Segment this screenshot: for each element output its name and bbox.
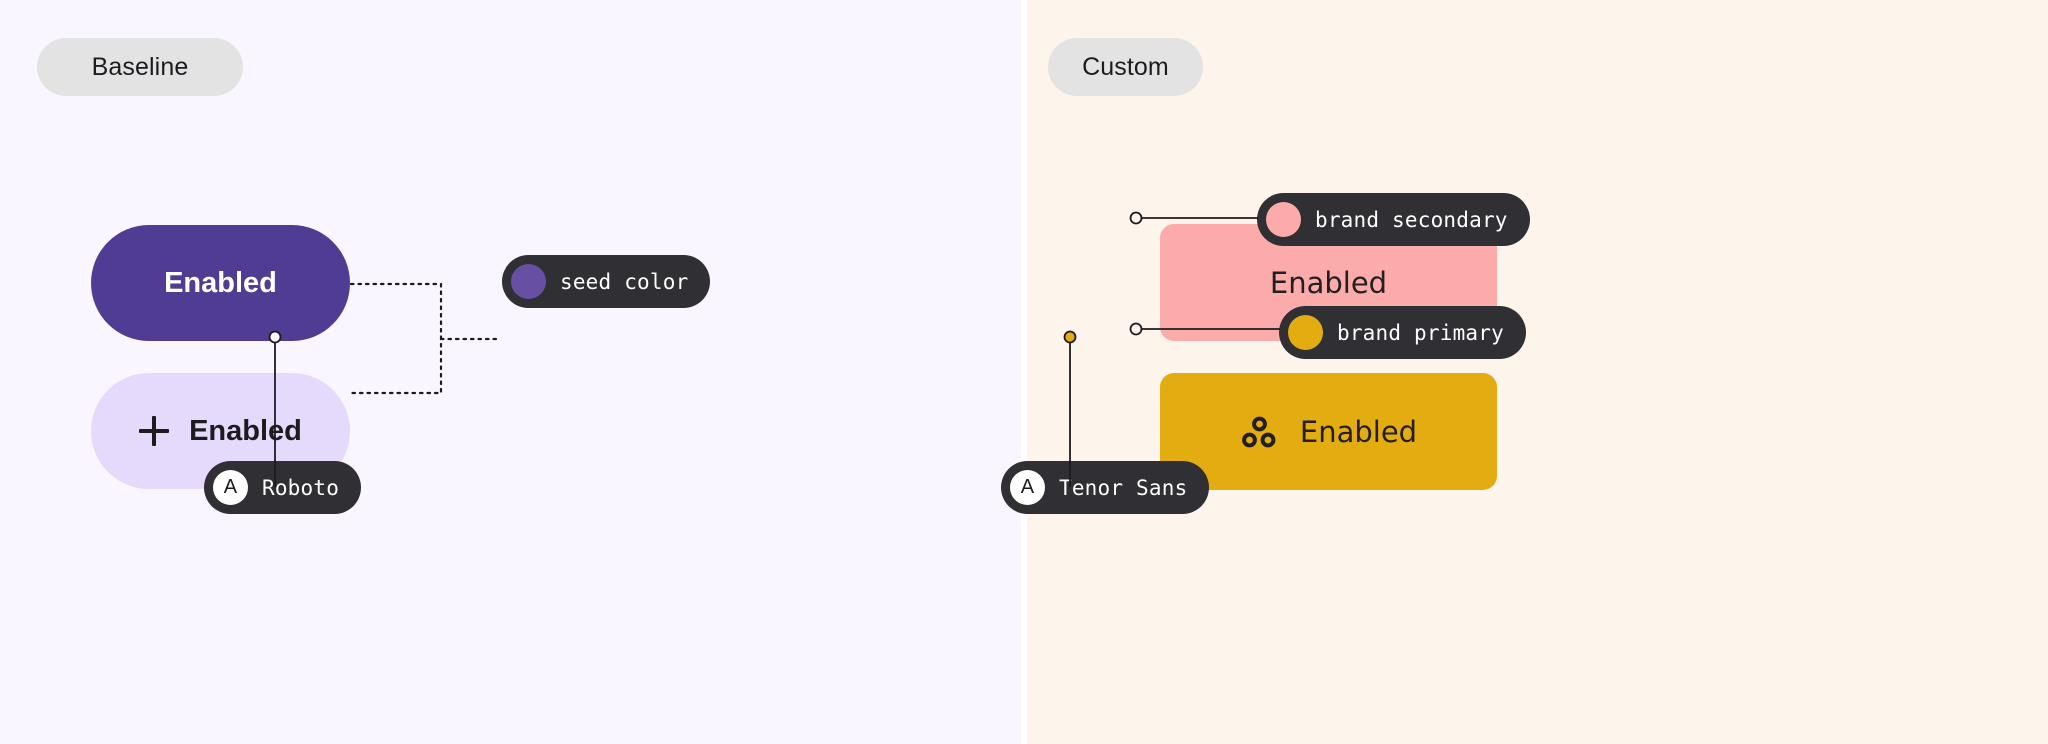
cluster-dots-icon: [1240, 413, 1278, 451]
token-chip-seed-color-label: seed color: [560, 270, 688, 294]
section-chip-baseline[interactable]: Baseline: [37, 38, 243, 96]
token-chip-tenor-sans[interactable]: A Tenor Sans: [1001, 461, 1209, 514]
button-enabled-brand-primary-label: Enabled: [1300, 415, 1417, 449]
color-swatch-brand-primary: [1288, 315, 1323, 350]
plus-icon: [139, 416, 169, 446]
section-chip-baseline-label: Baseline: [92, 53, 189, 82]
token-chip-roboto[interactable]: A Roboto: [204, 461, 361, 514]
token-chip-brand-primary[interactable]: brand primary: [1279, 306, 1526, 359]
button-enabled-brand-primary[interactable]: Enabled: [1160, 373, 1497, 490]
color-swatch-brand-secondary: [1266, 202, 1301, 237]
font-badge-icon: A: [1010, 470, 1045, 505]
font-badge-icon: A: [213, 470, 248, 505]
token-chip-roboto-label: Roboto: [262, 476, 339, 500]
token-chip-brand-primary-label: brand primary: [1337, 321, 1504, 345]
section-chip-custom-label: Custom: [1082, 53, 1169, 82]
button-enabled-tonal-label: Enabled: [189, 415, 302, 448]
token-chip-seed-color[interactable]: seed color: [502, 255, 710, 308]
token-chip-tenor-sans-label: Tenor Sans: [1059, 476, 1187, 500]
connector-lines-baseline: [0, 0, 1021, 744]
panel-custom: [1027, 0, 2048, 744]
comparison-canvas: Baseline Enabled Enabled seed color A Ro…: [0, 0, 2048, 744]
token-chip-brand-secondary-label: brand secondary: [1315, 208, 1508, 232]
button-enabled-brand-secondary-label: Enabled: [1270, 266, 1387, 300]
color-swatch-seed: [511, 264, 546, 299]
panel-baseline: Baseline Enabled Enabled seed color A Ro…: [0, 0, 1021, 744]
token-chip-brand-secondary[interactable]: brand secondary: [1257, 193, 1530, 246]
button-enabled-filled[interactable]: Enabled: [91, 225, 350, 341]
button-enabled-filled-label: Enabled: [164, 267, 277, 300]
section-chip-custom[interactable]: Custom: [1048, 38, 1203, 96]
wire-buttons-to-seed: [351, 284, 441, 393]
